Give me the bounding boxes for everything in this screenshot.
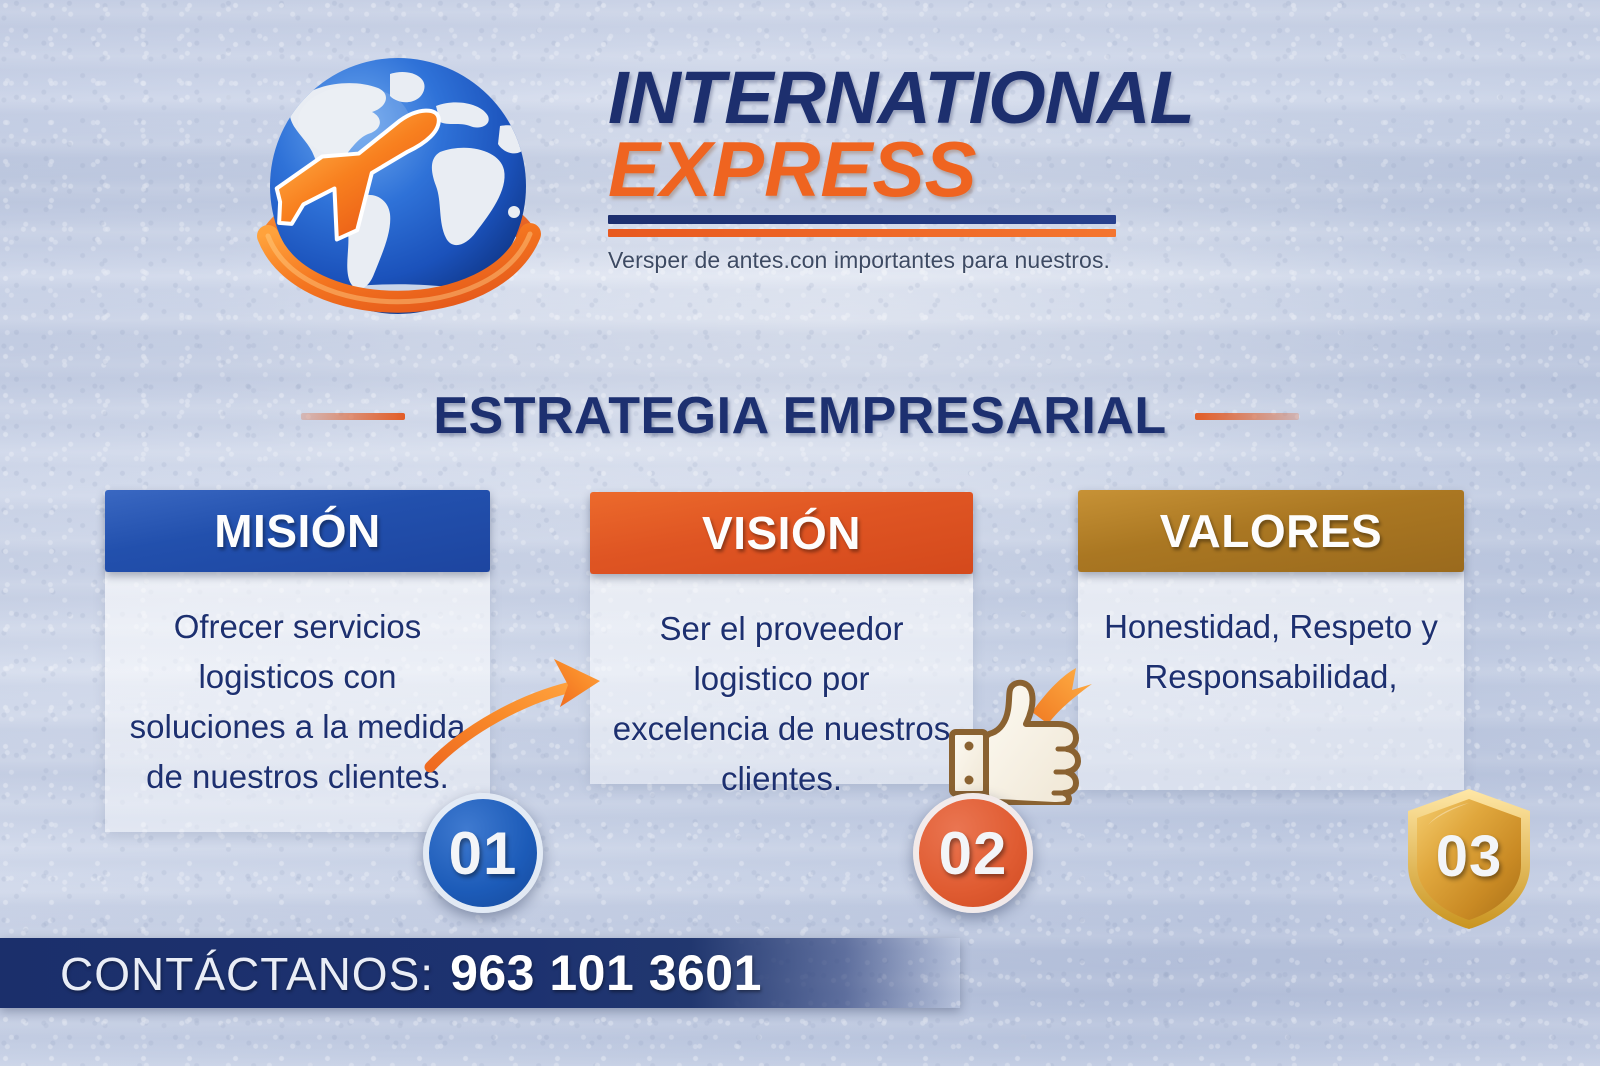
badge-02-number: 02: [939, 819, 1008, 888]
section-title-row: ESTRATEGIA EMPRESARIAL: [0, 383, 1600, 449]
title-dash-right: [1195, 413, 1299, 420]
badge-03-number: 03: [1436, 823, 1503, 890]
card-vision-header: VISIÓN: [590, 492, 973, 574]
card-valores-body: Honestidad, Respeto y Responsabilidad,: [1078, 572, 1464, 790]
brand-rule-blue: [608, 215, 1116, 224]
brand-name-line1: INTERNATIONAL: [608, 62, 1208, 134]
curved-arrow-icon: [418, 645, 618, 775]
card-vision-title: VISIÓN: [702, 506, 861, 560]
page-title: ESTRATEGIA EMPRESARIAL: [433, 386, 1166, 446]
contact-phone[interactable]: 963 101 3601: [450, 944, 762, 1002]
badge-03: 03: [1402, 785, 1536, 933]
card-valores-header: VALORES: [1078, 490, 1464, 572]
brand-name-line2: EXPRESS: [608, 130, 1208, 210]
card-valores-title: VALORES: [1160, 504, 1382, 558]
thumbs-up-icon: [936, 650, 1106, 805]
brand-header: INTERNATIONAL EXPRESS Versper de antes.c…: [0, 0, 1600, 330]
card-mision-text: Ofrecer servicios logisticos con solucio…: [127, 602, 468, 803]
card-vision[interactable]: VISIÓN Ser el proveedor logistico por ex…: [590, 492, 973, 784]
brand-wordmark: INTERNATIONAL EXPRESS Versper de antes.c…: [608, 62, 1208, 274]
infographic-poster: INTERNATIONAL EXPRESS Versper de antes.c…: [0, 0, 1600, 1066]
contact-bar[interactable]: CONTÁCTANOS: 963 101 3601: [0, 938, 960, 1008]
card-mision-title: MISIÓN: [214, 504, 381, 558]
badge-01-number: 01: [449, 819, 518, 888]
contact-label: CONTÁCTANOS:: [60, 947, 434, 1001]
card-valores-text: Honestidad, Respeto y Responsabilidad,: [1100, 602, 1442, 702]
globe-airplane-icon: [232, 26, 562, 356]
card-mision-header: MISIÓN: [105, 490, 490, 572]
card-valores[interactable]: VALORES Honestidad, Respeto y Responsabi…: [1078, 490, 1464, 790]
brand-tagline: Versper de antes.con importantes para nu…: [608, 247, 1208, 274]
badge-01: 01: [423, 793, 543, 913]
brand-rule-orange: [608, 229, 1116, 237]
badge-02: 02: [913, 793, 1033, 913]
card-vision-body: Ser el proveedor logistico por excelenci…: [590, 574, 973, 784]
title-dash-left: [301, 413, 405, 420]
card-vision-text: Ser el proveedor logistico por excelenci…: [612, 604, 951, 805]
